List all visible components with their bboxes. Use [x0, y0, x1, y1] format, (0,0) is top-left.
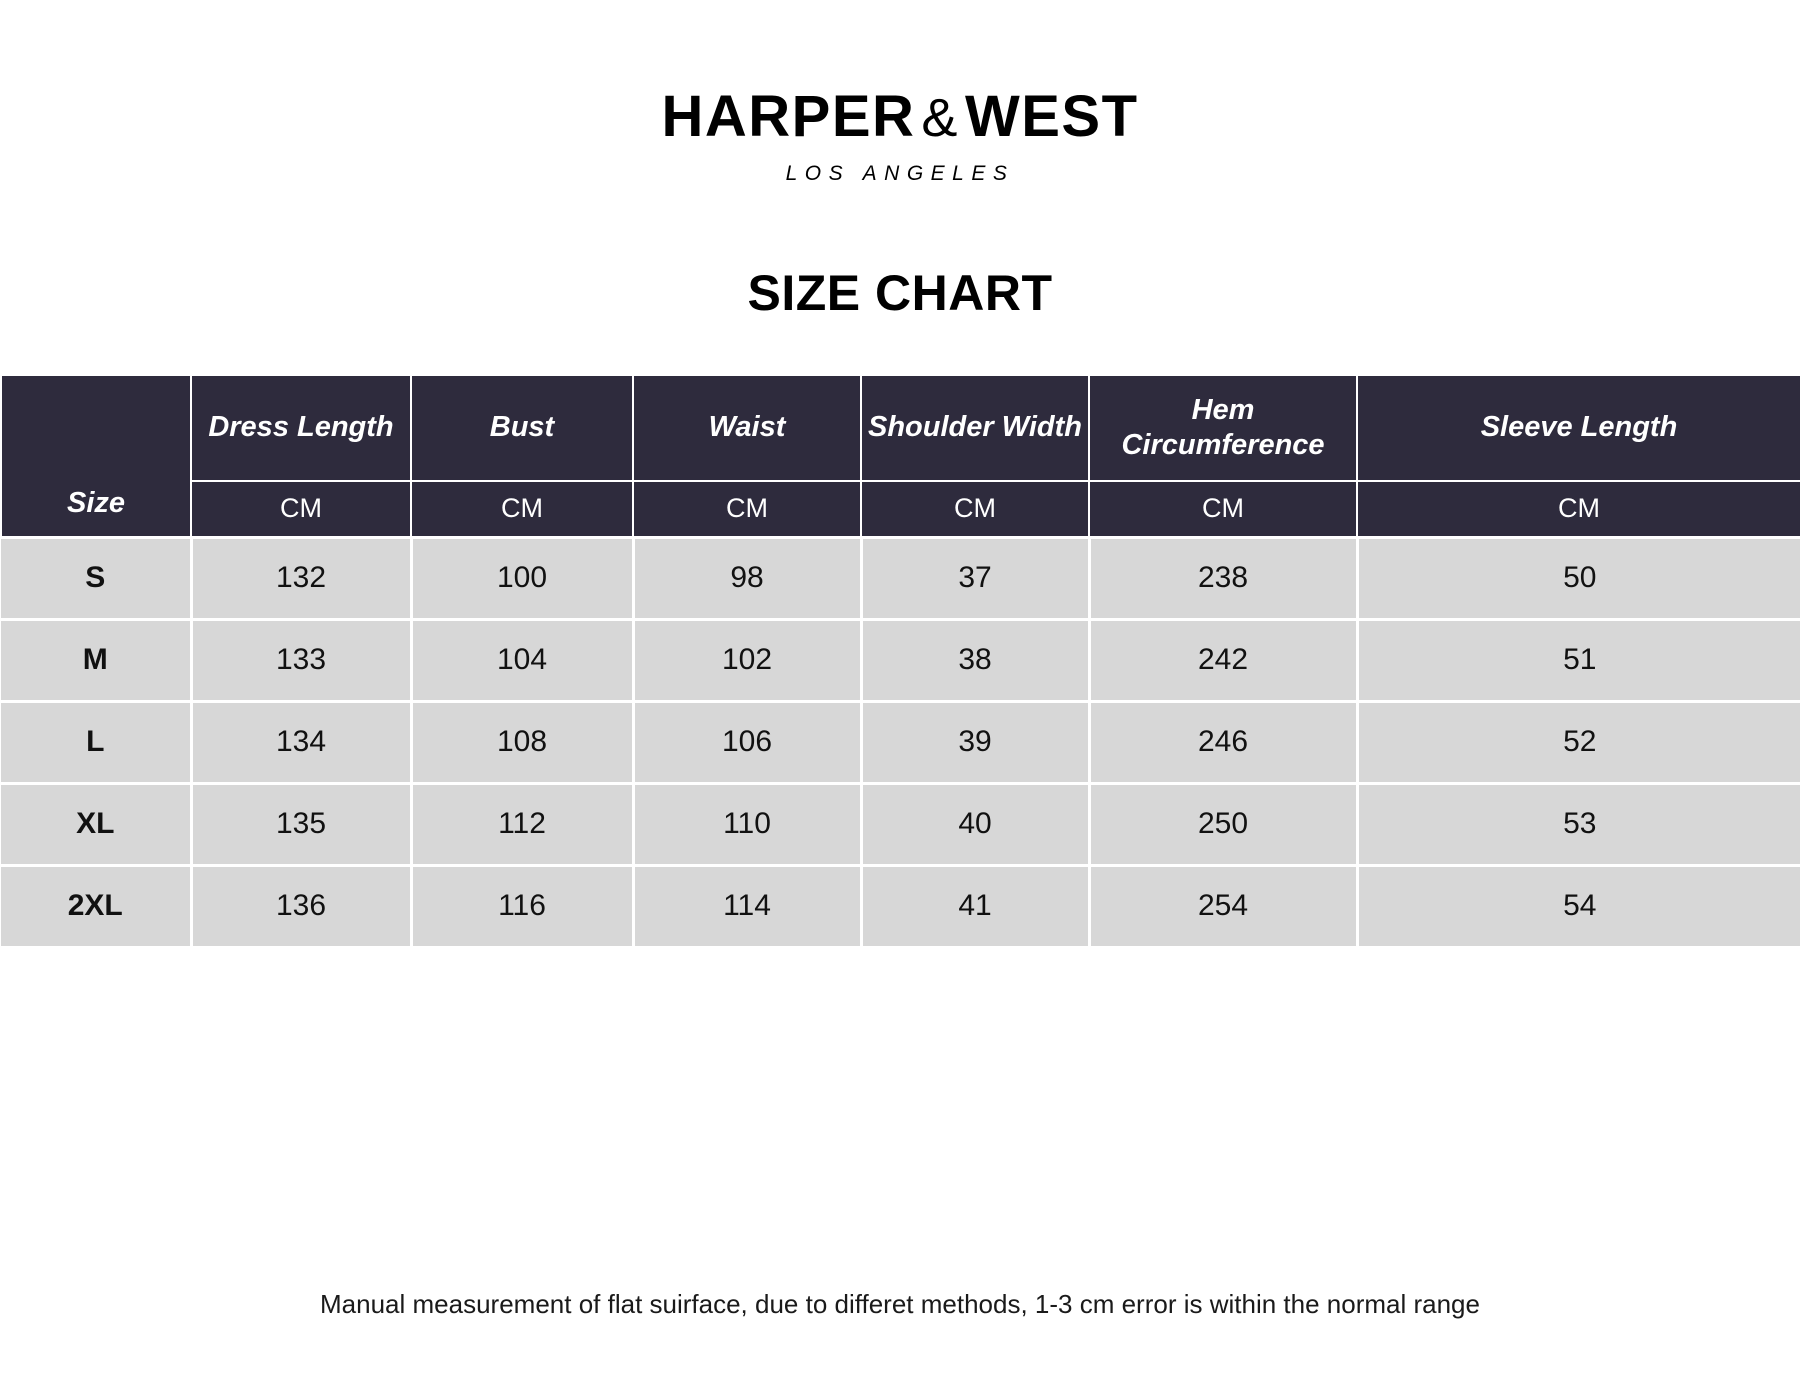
column-header-sleeve-length: Sleeve Length	[1357, 375, 1800, 481]
table-body: S 132 100 98 37 238 50 M 133 104 102 38 …	[1, 537, 1800, 947]
cell-waist: 102	[633, 619, 861, 701]
cell-hem-circumference: 238	[1089, 537, 1357, 619]
cell-dress-length: 135	[191, 783, 411, 865]
brand-ampersand: &	[915, 88, 965, 148]
cell-dress-length: 134	[191, 701, 411, 783]
size-table: Size Dress Length Bust Waist Shoulder Wi…	[0, 374, 1800, 949]
cell-shoulder-width: 41	[861, 865, 1089, 947]
cell-dress-length: 132	[191, 537, 411, 619]
column-header-size: Size	[1, 375, 191, 537]
brand-subtitle: LOS ANGELES	[0, 162, 1800, 186]
cell-dress-length: 136	[191, 865, 411, 947]
table-row: S 132 100 98 37 238 50	[1, 537, 1800, 619]
cell-sleeve-length: 50	[1357, 537, 1800, 619]
cell-sleeve-length: 52	[1357, 701, 1800, 783]
column-header-hem-circumference: Hem Circumference	[1089, 375, 1357, 481]
table-row: 2XL 136 116 114 41 254 54	[1, 865, 1800, 947]
cell-size: 2XL	[1, 865, 191, 947]
cell-hem-circumference: 254	[1089, 865, 1357, 947]
cell-size: M	[1, 619, 191, 701]
unit-waist: CM	[633, 481, 861, 537]
unit-sleeve-length: CM	[1357, 481, 1800, 537]
unit-bust: CM	[411, 481, 633, 537]
cell-hem-circumference: 242	[1089, 619, 1357, 701]
cell-dress-length: 133	[191, 619, 411, 701]
table-row: L 134 108 106 39 246 52	[1, 701, 1800, 783]
cell-waist: 98	[633, 537, 861, 619]
brand-name: HARPER&WEST	[0, 88, 1800, 146]
cell-waist: 106	[633, 701, 861, 783]
cell-shoulder-width: 37	[861, 537, 1089, 619]
table-header: Size Dress Length Bust Waist Shoulder Wi…	[1, 375, 1800, 537]
column-header-shoulder-width: Shoulder Width	[861, 375, 1089, 481]
header-row-labels: Size Dress Length Bust Waist Shoulder Wi…	[1, 375, 1800, 481]
cell-bust: 112	[411, 783, 633, 865]
brand-name-part2: WEST	[965, 84, 1139, 149]
size-chart-page: HARPER&WEST LOS ANGELES SIZE CHART Size …	[0, 0, 1800, 1378]
cell-sleeve-length: 53	[1357, 783, 1800, 865]
column-header-waist: Waist	[633, 375, 861, 481]
cell-sleeve-length: 54	[1357, 865, 1800, 947]
unit-hem-circumference: CM	[1089, 481, 1357, 537]
brand-block: HARPER&WEST LOS ANGELES	[0, 0, 1800, 186]
page-title: SIZE CHART	[0, 264, 1800, 322]
cell-sleeve-length: 51	[1357, 619, 1800, 701]
cell-bust: 116	[411, 865, 633, 947]
cell-bust: 100	[411, 537, 633, 619]
header-row-units: CM CM CM CM CM CM	[1, 481, 1800, 537]
cell-size: S	[1, 537, 191, 619]
table-row: XL 135 112 110 40 250 53	[1, 783, 1800, 865]
column-header-dress-length: Dress Length	[191, 375, 411, 481]
cell-size: L	[1, 701, 191, 783]
measurement-disclaimer: Manual measurement of flat suirface, due…	[0, 1289, 1800, 1320]
cell-size: XL	[1, 783, 191, 865]
cell-shoulder-width: 38	[861, 619, 1089, 701]
table-row: M 133 104 102 38 242 51	[1, 619, 1800, 701]
cell-hem-circumference: 246	[1089, 701, 1357, 783]
brand-name-part1: HARPER	[662, 84, 916, 149]
cell-bust: 108	[411, 701, 633, 783]
cell-waist: 110	[633, 783, 861, 865]
unit-dress-length: CM	[191, 481, 411, 537]
cell-shoulder-width: 39	[861, 701, 1089, 783]
size-table-wrap: Size Dress Length Bust Waist Shoulder Wi…	[0, 374, 1800, 949]
unit-shoulder-width: CM	[861, 481, 1089, 537]
cell-hem-circumference: 250	[1089, 783, 1357, 865]
cell-waist: 114	[633, 865, 861, 947]
column-header-bust: Bust	[411, 375, 633, 481]
cell-shoulder-width: 40	[861, 783, 1089, 865]
cell-bust: 104	[411, 619, 633, 701]
